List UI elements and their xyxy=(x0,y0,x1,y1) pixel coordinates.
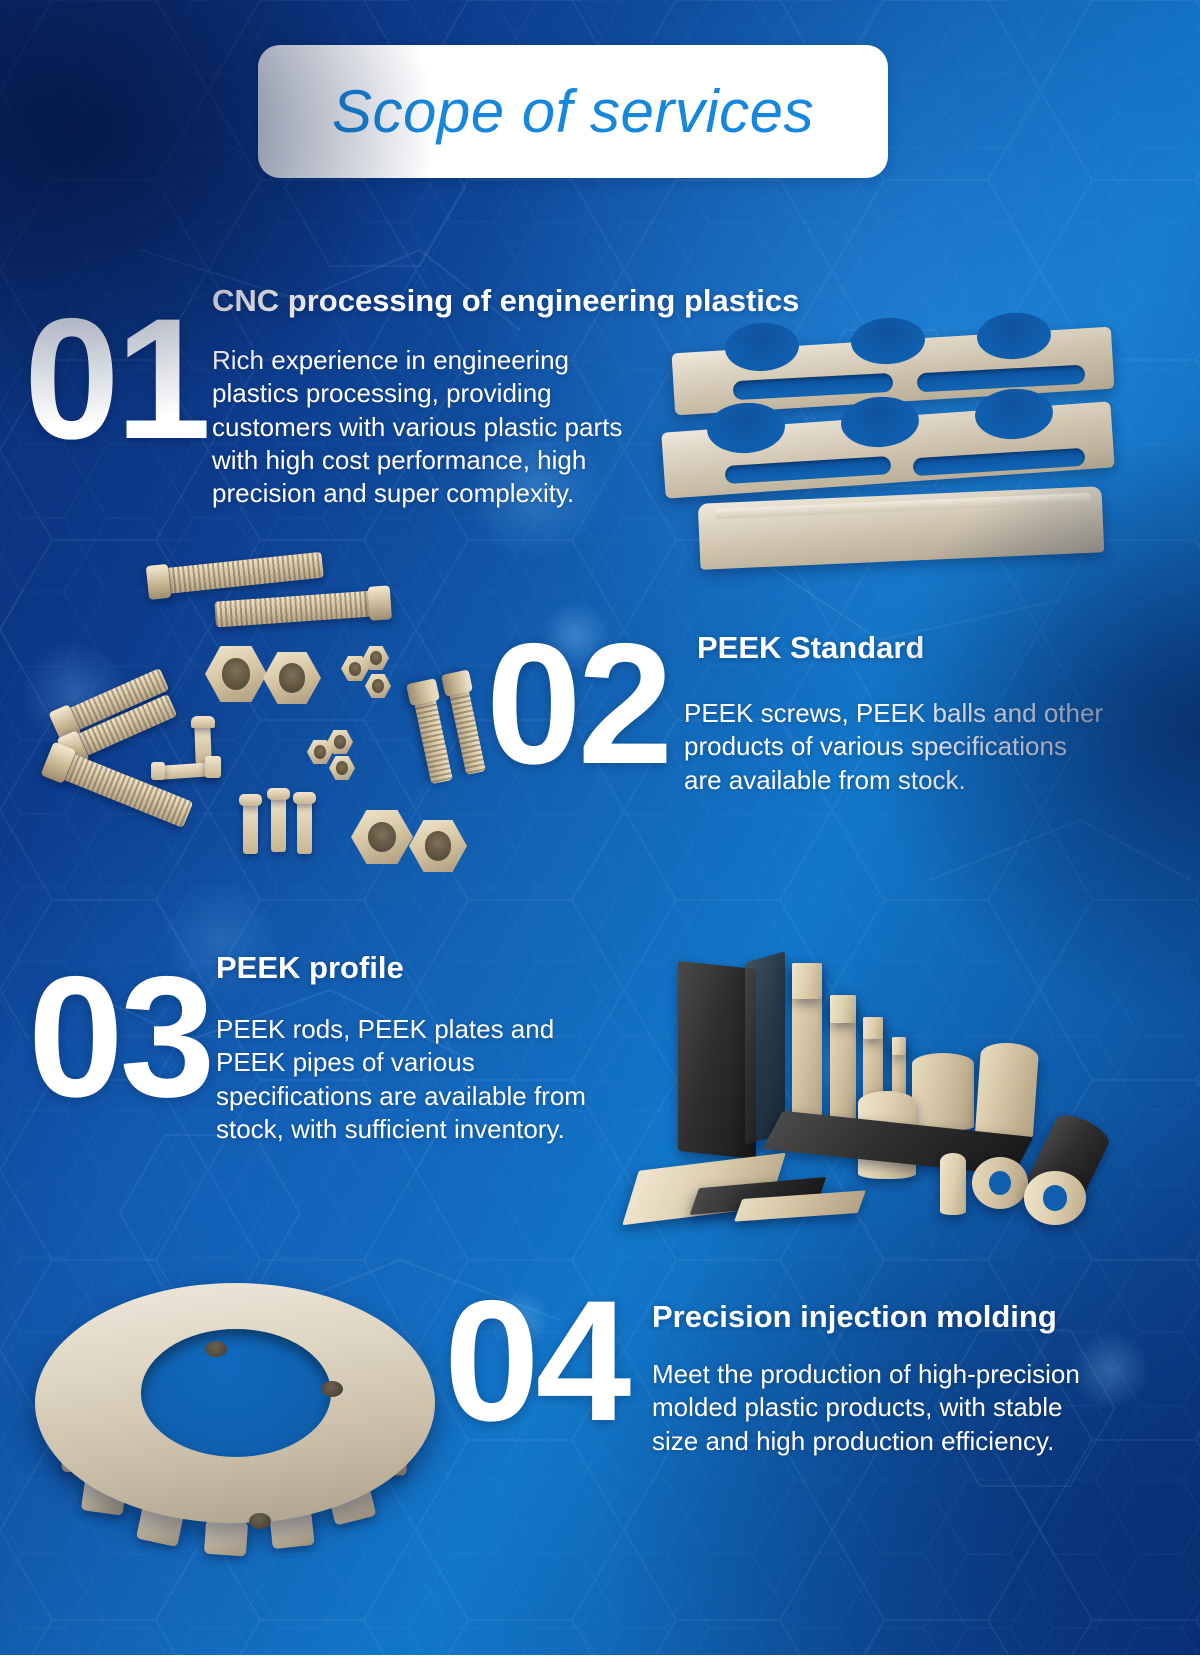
section-body-04: Meet the production of high-precision mo… xyxy=(652,1358,1102,1458)
section-number-01: 01 xyxy=(24,300,207,458)
ring-tooth xyxy=(204,1520,248,1557)
ring-tooth xyxy=(129,1350,175,1390)
bokeh-circle xyxy=(20,640,130,750)
ring-tooth xyxy=(363,1394,409,1434)
ring-tooth xyxy=(269,1511,314,1549)
section-heading-03: PEEK profile xyxy=(216,950,404,986)
peek-rods-plates-tubes-image xyxy=(620,895,1120,1215)
section-number-03: 03 xyxy=(28,958,211,1116)
peek-screws-and-nuts-image xyxy=(45,548,475,858)
cnc-machined-plastic-part-image xyxy=(655,305,1125,560)
ring-tooth xyxy=(194,1334,238,1371)
ring-tooth xyxy=(60,1436,104,1473)
ring-tooth xyxy=(56,1392,103,1433)
ring-tooth xyxy=(81,1476,127,1516)
section-number-04: 04 xyxy=(444,1282,627,1440)
section-heading-04: Precision injection molding xyxy=(652,1299,1057,1335)
injection-molded-toothed-ring-image xyxy=(35,1255,435,1555)
page-title: Scope of services xyxy=(332,77,814,146)
ring-tooth xyxy=(327,1357,372,1395)
section-body-02: PEEK screws, PEEK balls and other produc… xyxy=(684,697,1104,797)
section-body-03: PEEK rods, PEEK plates and PEEK pipes of… xyxy=(216,1013,616,1146)
ring-tooth xyxy=(262,1338,305,1373)
ring-tooth xyxy=(328,1482,377,1525)
page-title-card: Scope of services xyxy=(258,45,888,178)
section-number-02: 02 xyxy=(486,625,669,783)
section-heading-02: PEEK Standard xyxy=(697,630,924,666)
poster-canvas: Scope of services 01 CNC processing of e… xyxy=(0,0,1200,1655)
section-body-01: Rich experience in engineering plastics … xyxy=(212,344,637,510)
section-heading-01: CNC processing of engineering plastics xyxy=(212,283,799,319)
ring-tooth xyxy=(136,1505,184,1547)
ring-tooth xyxy=(364,1440,407,1475)
bokeh-circle xyxy=(790,1020,880,1110)
bottom-white-band xyxy=(0,1655,1200,1675)
